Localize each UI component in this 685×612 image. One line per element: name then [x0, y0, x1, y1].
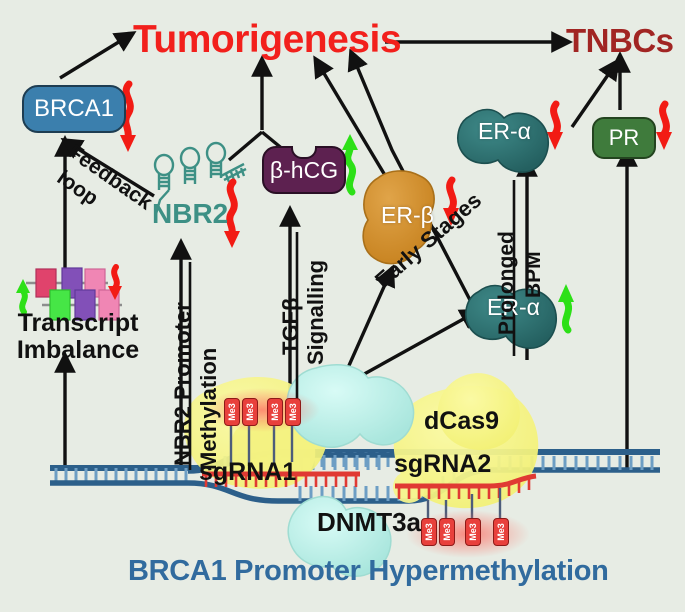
- page-title-tumorigenesis: Tumorigenesis: [133, 18, 401, 62]
- node-sgrna2-label: sgRNA2: [394, 450, 491, 479]
- node-er-alpha-top-label: ER-α: [478, 118, 531, 145]
- me3-label: Me3: [245, 403, 255, 421]
- me3-label: Me3: [442, 523, 452, 541]
- arrow-y-left-branch: [229, 132, 262, 160]
- me3-label: Me3: [270, 403, 280, 421]
- me3-label: Me3: [468, 523, 478, 541]
- up-arrow-eralpha-bottom: [558, 284, 574, 330]
- me3-label: Me3: [496, 523, 506, 541]
- label-prolonged: Prolonged: [495, 231, 519, 335]
- node-nbr2-label: NBR2: [152, 198, 228, 230]
- label-tgfb: TGFβ: [278, 298, 304, 355]
- transcript-line1: Transcript: [8, 310, 148, 337]
- label-signalling: Signalling: [303, 260, 329, 365]
- transcript-line2: Imbalance: [8, 337, 148, 364]
- node-bhcg-label: β-hCG: [270, 157, 338, 184]
- node-pr-label: PR: [609, 125, 640, 151]
- node-dnmt3a-label: DNMT3a: [317, 507, 421, 538]
- me3-mark: Me3: [242, 398, 258, 426]
- me3-mark: Me3: [439, 518, 455, 546]
- me3-mark: Me3: [267, 398, 283, 426]
- node-bhcg[interactable]: β-hCG: [262, 146, 346, 194]
- me3-mark: Me3: [493, 518, 509, 546]
- me3-label: Me3: [227, 403, 237, 421]
- me3-mark: Me3: [421, 518, 437, 546]
- node-dcas9-label: dCas9: [424, 407, 499, 436]
- me3-mark: Me3: [285, 398, 301, 426]
- label-bpm: BPM: [522, 251, 546, 298]
- label-nbr2-promoter: NBR2 Promoter: [170, 302, 196, 466]
- node-pr[interactable]: PR: [592, 117, 656, 159]
- node-brca1-label: BRCA1: [34, 95, 114, 123]
- label-tnbcs: TNBCs: [566, 22, 674, 60]
- dna-duplex: [50, 438, 660, 501]
- pathway-figure: Tumorigenesis TNBCs BRCA1 Promoter Hyper…: [0, 0, 685, 612]
- bottom-title: BRCA1 Promoter Hypermethylation: [128, 555, 609, 588]
- me3-mark: Me3: [224, 398, 240, 426]
- node-brca1[interactable]: BRCA1: [22, 85, 126, 133]
- node-transcript-imbalance: Transcript Imbalance: [8, 310, 148, 364]
- down-arrow-pr: [656, 104, 672, 150]
- me3-label: Me3: [288, 403, 298, 421]
- me3-label: Me3: [424, 523, 434, 541]
- me3-mark: Me3: [465, 518, 481, 546]
- down-arrow-eralpha-top: [547, 104, 563, 150]
- label-methylation: Methylation: [196, 348, 222, 470]
- arrow-brca1-to-tumorigenesis: [60, 40, 122, 78]
